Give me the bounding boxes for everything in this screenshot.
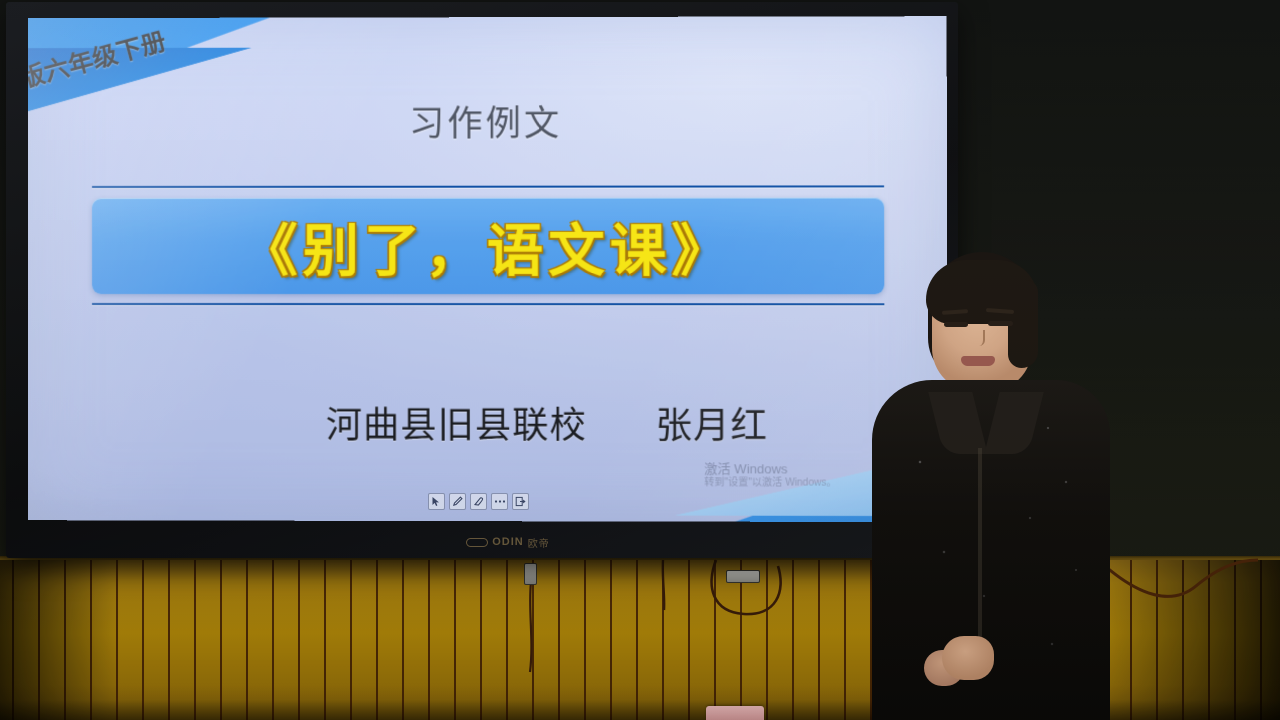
slide-title: 《别了，语文课》 <box>241 205 733 286</box>
interactive-flat-panel[interactable]: 版六年级下册 习作例文 《别了，语文课》 河曲县旧县联校 张月红 激活 Wind… <box>6 2 958 558</box>
presenter-eye-right <box>988 321 1013 326</box>
eraser-button[interactable] <box>470 493 487 510</box>
exit-icon <box>515 496 526 507</box>
presenter-jacket-placket <box>978 448 982 648</box>
wainscot-shadow-right <box>1100 560 1280 720</box>
display-brand-logo: ODIN 欧帝 <box>438 533 578 551</box>
divider-rule-top <box>92 185 884 188</box>
presenter-eye-left <box>944 322 968 327</box>
presenter-nose <box>973 330 985 346</box>
presenter-figure <box>880 252 1110 720</box>
byline-author: 张月红 <box>656 405 768 446</box>
slide-byline: 河曲县旧县联校 张月红 <box>28 396 948 449</box>
slide-kicker: 习作例文 <box>28 95 947 147</box>
wainscot-shadow-left <box>0 560 120 720</box>
presentation-slide[interactable]: 版六年级下册 习作例文 《别了，语文课》 河曲县旧县联校 张月红 激活 Wind… <box>28 16 948 522</box>
cursor-arrow-icon <box>431 496 442 507</box>
divider-rule-bottom <box>92 303 884 305</box>
title-banner: 《别了，语文课》 <box>92 197 884 294</box>
ellipsis-icon <box>494 499 506 504</box>
floor-object <box>706 706 764 720</box>
exit-button[interactable] <box>512 493 529 510</box>
eraser-icon <box>473 496 484 507</box>
presenter-hand-front <box>942 636 994 680</box>
annotation-toolbar[interactable] <box>426 491 531 512</box>
pen-icon <box>452 496 463 507</box>
byline-school: 河曲县旧县联校 <box>326 404 587 446</box>
presenter-mouth <box>961 356 995 366</box>
brand-name-cn: 欧帝 <box>528 535 550 550</box>
pill-logo-icon <box>466 538 488 547</box>
more-button[interactable] <box>491 493 508 510</box>
brand-name: ODIN <box>492 536 524 548</box>
select-cursor-button[interactable] <box>428 493 445 510</box>
pen-button[interactable] <box>449 493 466 510</box>
wall-socket-plate <box>726 570 760 583</box>
classroom-scene: 版六年级下册 习作例文 《别了，语文课》 河曲县旧县联校 张月红 激活 Wind… <box>0 0 1280 720</box>
wall-outlet-plate <box>524 563 537 585</box>
